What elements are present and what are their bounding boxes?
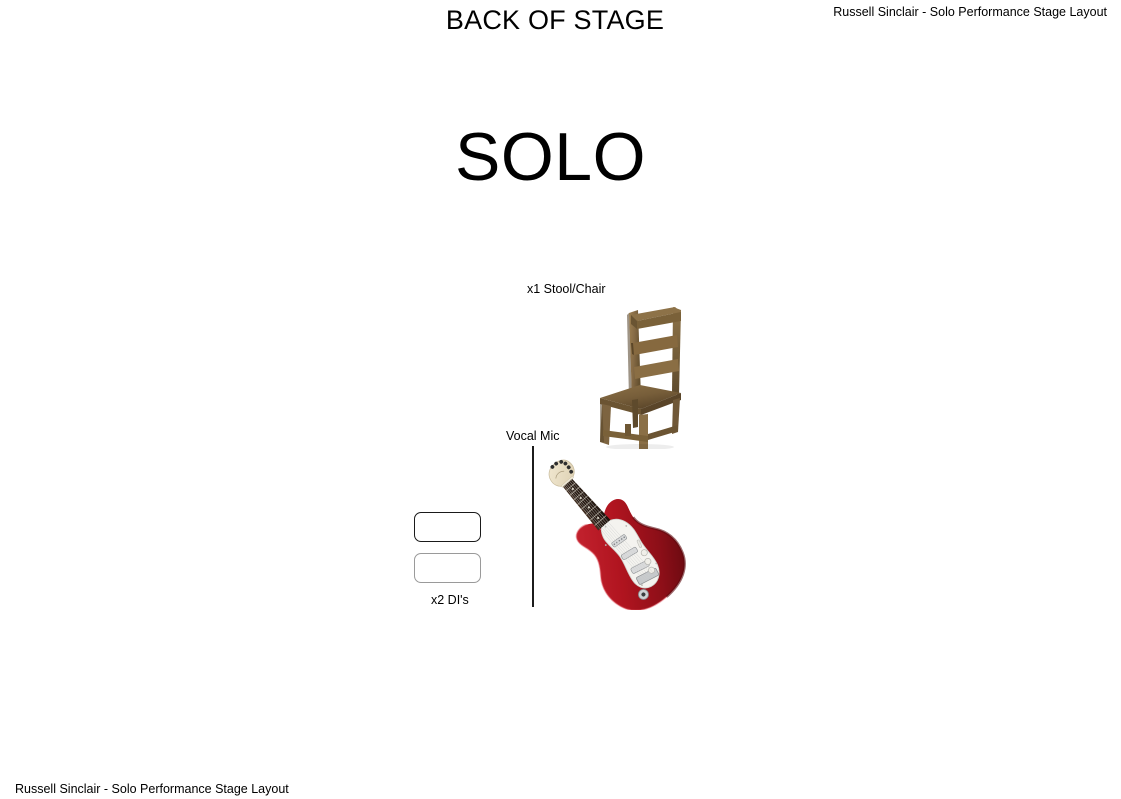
- header-credit: Russell Sinclair - Solo Performance Stag…: [833, 4, 1107, 20]
- stage-layout-canvas: BACK OF STAGE Russell Sinclair - Solo Pe…: [0, 0, 1121, 799]
- footer-credit: Russell Sinclair - Solo Performance Stag…: [15, 781, 289, 797]
- chair-label: x1 Stool/Chair: [527, 282, 606, 297]
- di-box-1: [414, 512, 481, 542]
- electric-guitar-icon: [540, 440, 712, 610]
- mic-stand-icon: [532, 446, 534, 607]
- wooden-chair-icon: [578, 303, 690, 449]
- main-title: SOLO: [0, 118, 1101, 196]
- di-boxes-label: x2 DI's: [431, 593, 469, 608]
- di-box-2: [414, 553, 481, 583]
